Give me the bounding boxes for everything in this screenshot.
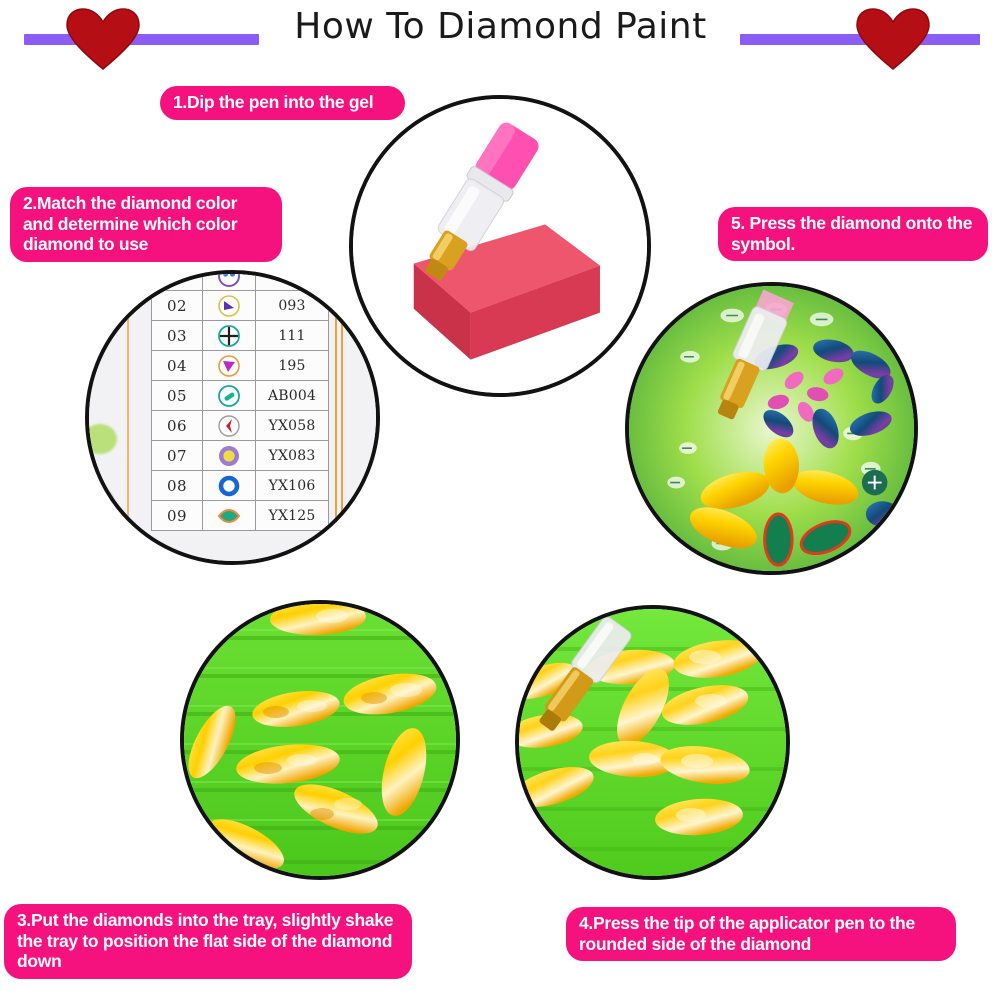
table-row: 05 AB004 [152, 381, 329, 411]
chart-cell-symbol [203, 411, 256, 441]
chart-cell-code: 195 [256, 351, 329, 381]
chart-cell-no: 02 [152, 291, 203, 321]
chart-cell-symbol [203, 501, 256, 531]
triangle-right-icon [217, 294, 241, 318]
table-row: 06 YX058 [152, 411, 329, 441]
step-5-label: 5. Press the diamond onto the symbol. [718, 207, 988, 261]
filled-dot-icon [217, 444, 241, 468]
chart-cell-code: 111 [256, 321, 329, 351]
chart-blob-teal [87, 489, 113, 511]
photo-pen-picks-diamond [515, 605, 790, 880]
chart-cell-symbol [203, 441, 256, 471]
table-row: 07 YX083 [152, 441, 329, 471]
chart-cell-no: 06 [152, 411, 203, 441]
chart-edge-line-right-b [341, 274, 343, 561]
page-header: How To Diamond Paint [0, 0, 1001, 72]
table-row: 028 [152, 270, 329, 291]
slash-bar-icon [217, 384, 241, 408]
chart-edge-line-right-a [335, 274, 337, 561]
table-row: 04 195 [152, 351, 329, 381]
color-chart-table: 028 02 093 03 [151, 270, 329, 531]
chart-cell-no [152, 270, 203, 291]
chart-cell-no: 09 [152, 501, 203, 531]
table-row: 08 YX106 [152, 471, 329, 501]
chart-cell-code: 028 [256, 270, 329, 291]
chart-cell-code: YX106 [256, 471, 329, 501]
table-row: 03 111 [152, 321, 329, 351]
chart-cell-no: 04 [152, 351, 203, 381]
photo-diamonds-in-tray [180, 600, 460, 880]
chart-cell-symbol [203, 291, 256, 321]
page-title: How To Diamond Paint [0, 6, 1001, 47]
chart-blob-green [85, 424, 117, 454]
chart-cell-symbol [203, 321, 256, 351]
dots-circle-icon [217, 270, 241, 288]
chart-cell-no: 07 [152, 441, 203, 471]
chart-cell-code: YX058 [256, 411, 329, 441]
triangle-down-icon [217, 354, 241, 378]
color-chart-photo: 028 02 093 03 [89, 274, 376, 561]
photo-place-on-symbol [625, 282, 918, 575]
step-1-label: 1.Dip the pen into the gel [160, 86, 405, 120]
chart-cell-no: 05 [152, 381, 203, 411]
chart-cell-symbol [203, 351, 256, 381]
chart-cell-symbol [203, 471, 256, 501]
chevron-left-icon [217, 414, 241, 438]
step-4-label: 4.Press the tip of the applicator pen to… [566, 907, 956, 961]
table-row: 09 YX125 [152, 501, 329, 531]
leaf-shape-icon [217, 504, 241, 528]
step-2-label: 2.Match the diamond color and determine … [10, 187, 282, 262]
chart-cell-code: YX083 [256, 441, 329, 471]
photo-pen-into-gel [349, 95, 651, 397]
chart-cell-code: AB004 [256, 381, 329, 411]
photo-color-chart: 028 02 093 03 [85, 270, 380, 565]
open-ring-icon [217, 474, 241, 498]
chart-cell-no: 03 [152, 321, 203, 351]
chart-edge-line-left [127, 274, 129, 561]
chart-cell-code: YX125 [256, 501, 329, 531]
chart-cell-symbol [203, 270, 256, 291]
chart-cell-symbol [203, 381, 256, 411]
table-row: 02 093 [152, 291, 329, 321]
plus-cross-icon [217, 324, 241, 348]
chart-cell-no: 08 [152, 471, 203, 501]
step-3-label: 3.Put the diamonds into the tray, slight… [4, 904, 412, 979]
chart-cell-code: 093 [256, 291, 329, 321]
